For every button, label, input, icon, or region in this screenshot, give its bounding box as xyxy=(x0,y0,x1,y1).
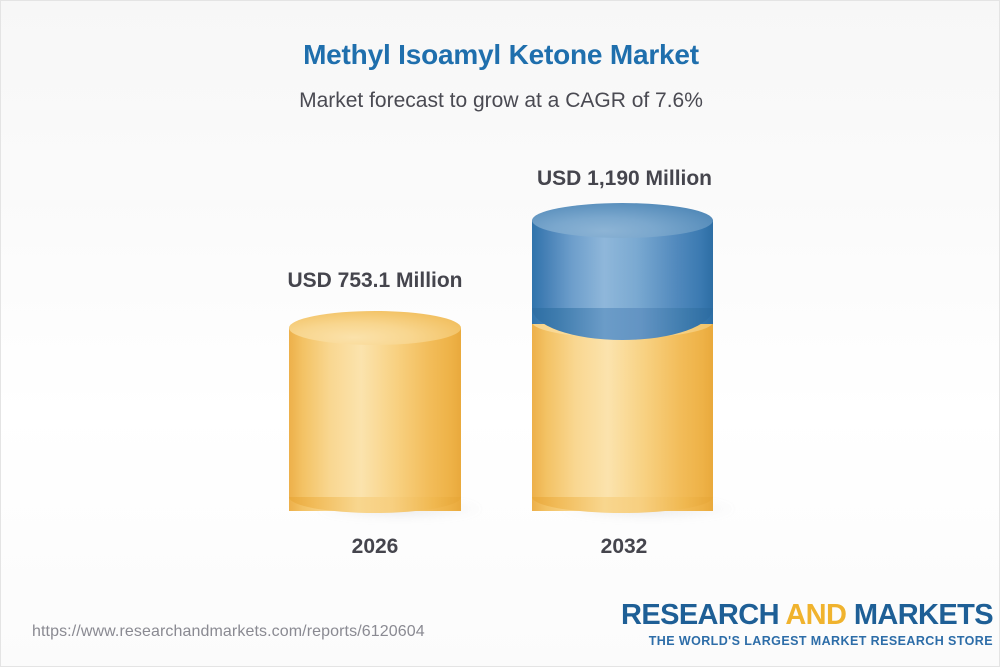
brand-wordmark: RESEARCH AND MARKETS xyxy=(621,601,993,630)
brand-word-markets: MARKETS xyxy=(854,599,993,631)
page-title: Methyl Isoamyl Ketone Market xyxy=(1,39,1000,71)
bar-top-ellipse-2032 xyxy=(532,203,713,238)
bar-body-2032-base xyxy=(532,321,713,511)
bar-cylinder-2026 xyxy=(289,311,461,511)
bar-value-label-2026: USD 753.1 Million xyxy=(275,269,475,293)
bar-cylinder-2032 xyxy=(532,203,713,511)
bar-category-label-2026: 2026 xyxy=(285,535,465,559)
market-infographic: Methyl Isoamyl Ketone Market Market fore… xyxy=(0,0,1000,667)
bar-top-ellipse-2026 xyxy=(289,311,461,345)
brand-word-research: RESEARCH xyxy=(621,599,785,631)
source-url-link[interactable]: https://www.researchandmarkets.com/repor… xyxy=(32,623,425,641)
bar-body-2026 xyxy=(289,328,461,511)
brand-word-and: AND xyxy=(785,599,854,631)
brand-tagline: THE WORLD'S LARGEST MARKET RESEARCH STOR… xyxy=(621,634,993,648)
brand-logo: RESEARCH AND MARKETS THE WORLD'S LARGEST… xyxy=(621,601,993,648)
bar-value-label-2032: USD 1,190 Million xyxy=(522,167,727,191)
bar-category-label-2032: 2032 xyxy=(532,535,716,559)
chart-subtitle: Market forecast to grow at a CAGR of 7.6… xyxy=(1,89,1000,113)
